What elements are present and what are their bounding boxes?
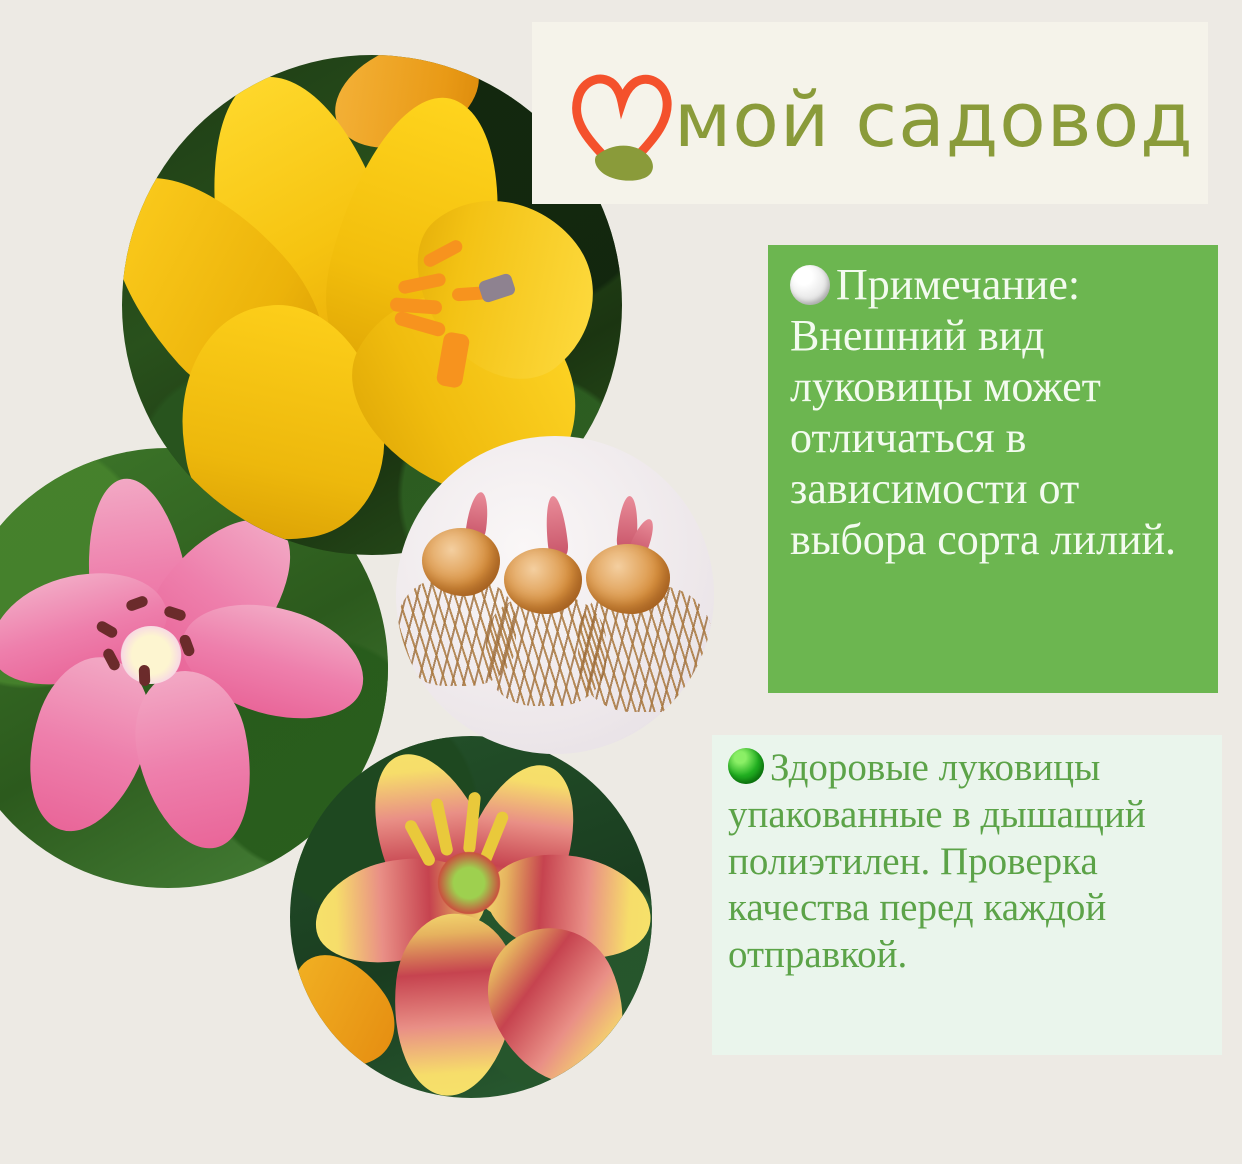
note-primary-text: Примечание: Внешний вид луковицы может о… (790, 260, 1176, 564)
flower-center-shape (432, 848, 506, 918)
note-secondary: Здоровые луковицы упакованные в дышащий … (712, 735, 1222, 1055)
bulb-shape (586, 544, 670, 614)
note-secondary-body: Здоровые луковицы упакованные в дышащий … (728, 745, 1204, 979)
bulb-shape (422, 528, 500, 596)
note-primary: Примечание: Внешний вид луковицы может о… (768, 245, 1218, 693)
green-circle-icon (728, 748, 764, 784)
bulb-shape (504, 548, 582, 614)
brand-logo: мой садовод (568, 48, 1218, 198)
note-secondary-text: Здоровые луковицы упакованные в дышащий … (728, 746, 1146, 976)
product-collage-canvas: мой садовод Примечание: Внешний вид луко… (0, 0, 1242, 1164)
flower-center-shape (120, 626, 182, 684)
note-primary-body: Примечание: Внешний вид луковицы может о… (790, 259, 1196, 565)
lily-bulbs-photo (396, 436, 714, 754)
red-yellow-lily-photo (290, 736, 652, 1098)
anther-shape (139, 665, 151, 686)
heart-leaf-mark (568, 60, 676, 186)
white-circle-icon (790, 265, 830, 305)
brand-name: мой садовод (674, 75, 1194, 164)
